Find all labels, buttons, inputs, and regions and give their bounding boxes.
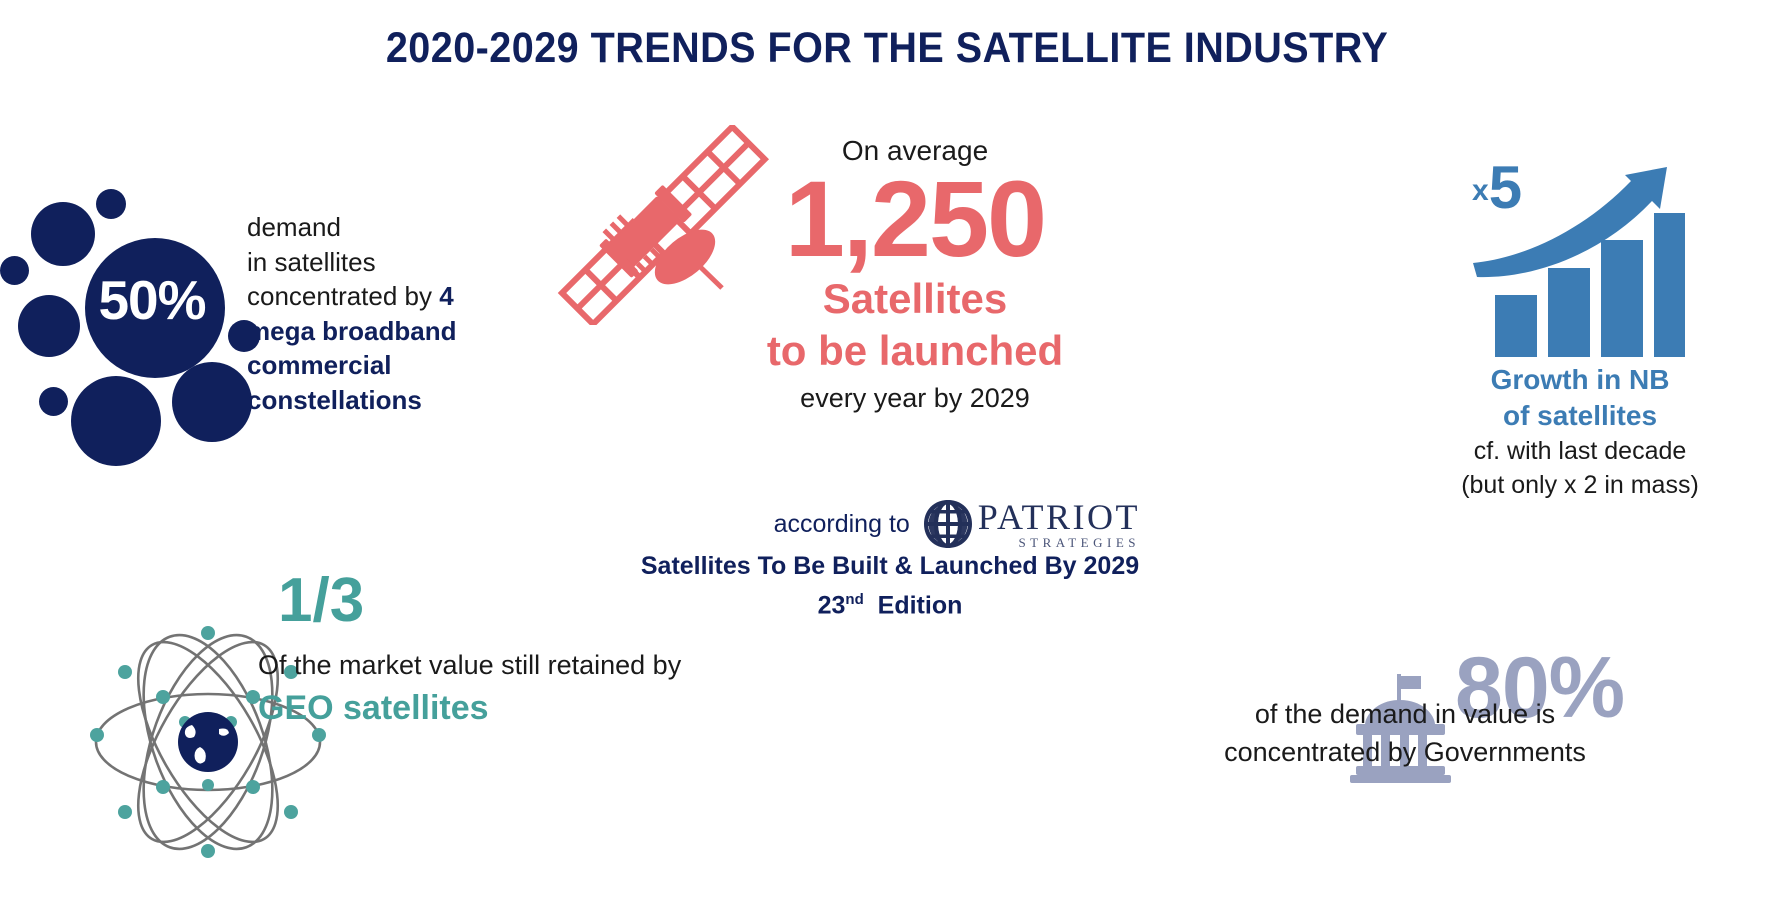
geo-stat-text: Of the market value still retained by GE…	[258, 645, 728, 731]
to-be-launched-label: to be launched	[700, 325, 1130, 377]
according-to-label: according to	[774, 510, 910, 539]
globe-icon	[922, 498, 974, 550]
growth-sub-2: (but only x 2 in mass)	[1395, 468, 1765, 502]
bubble-text-line-3-bold: 4	[439, 281, 453, 311]
report-edition-line: 23nd Edition	[560, 583, 1220, 622]
big-number-value: 1,250	[700, 165, 1130, 273]
growth-headline-2: of satellites	[1395, 398, 1765, 434]
geo-highlight: GEO satellites	[258, 685, 728, 731]
patriot-strategies-logo: PATRIOT STRATEGIES	[922, 498, 1140, 550]
edition-number: 23	[818, 591, 846, 619]
growth-stat-text: Growth in NB of satellites cf. with last…	[1395, 362, 1765, 502]
logo-primary-text: PATRIOT	[978, 499, 1140, 535]
bubble-text-line-3: concentrated by 4	[247, 279, 547, 314]
edition-word: Edition	[878, 591, 963, 619]
bubble-text-line-3-prefix: concentrated by	[247, 281, 439, 311]
satellites-label: Satellites	[700, 273, 1130, 325]
growth-headline-1: Growth in NB	[1395, 362, 1765, 398]
government-text-line-2: concentrated by Governments	[1125, 733, 1685, 771]
logo-wordmark: PATRIOT STRATEGIES	[978, 499, 1140, 549]
growth-multiplier-label: x5	[1472, 158, 1522, 218]
government-stat-text: of the demand in value is concentrated b…	[1125, 695, 1685, 771]
report-title-block: Satellites To Be Built & Launched By 202…	[560, 550, 1220, 622]
every-year-footnote: every year by 2029	[700, 379, 1130, 417]
report-title-line: Satellites To Be Built & Launched By 202…	[560, 550, 1220, 583]
edition-suffix: nd	[845, 591, 863, 608]
bubble-text-line-1: demand	[247, 210, 547, 245]
page-title: 2020-2029 TRENDS FOR THE SATELLITE INDUS…	[71, 24, 1703, 73]
multiplier-value: 5	[1489, 154, 1522, 221]
geo-fraction-value: 1/3	[278, 570, 364, 632]
growth-sub-1: cf. with last decade	[1395, 434, 1765, 468]
bubble-text-line-6: constellations	[247, 383, 547, 418]
government-text-line-1: of the demand in value is	[1125, 695, 1685, 733]
bubble-text-line-5: commercial	[247, 348, 547, 383]
geo-description: Of the market value still retained by	[258, 645, 728, 685]
multiplier-x: x	[1472, 174, 1489, 207]
bubble-stat-text: demand in satellites concentrated by 4 m…	[247, 210, 547, 417]
attribution-row: according to PATRIOT STRATEGIES	[690, 498, 1140, 550]
bubble-percent-label: 50%	[82, 268, 222, 332]
bubble-text-line-4: mega broadband	[247, 314, 547, 349]
logo-secondary-text: STRATEGIES	[978, 536, 1140, 549]
launch-stat-block: On average 1,250 Satellites to be launch…	[700, 133, 1130, 417]
bubble-text-line-2: in satellites	[247, 245, 547, 280]
